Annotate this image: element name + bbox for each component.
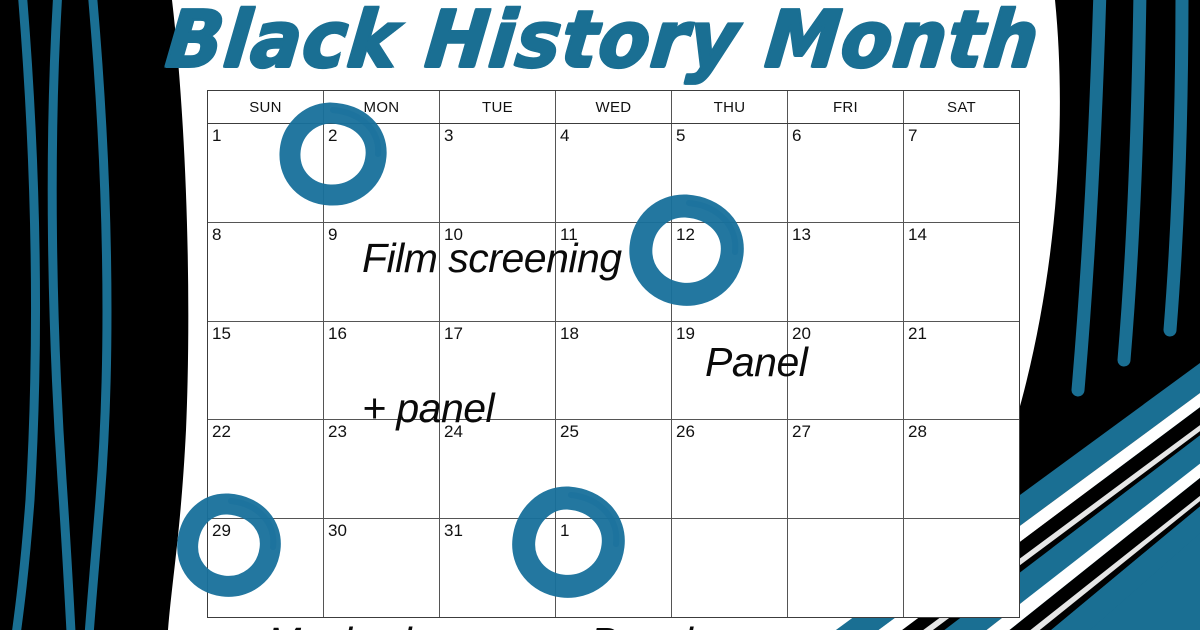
day-number: 8 <box>212 225 221 244</box>
day-number: 16 <box>328 324 347 343</box>
day-cell[interactable]: 24 <box>440 420 556 518</box>
day-cell[interactable]: 1 <box>208 124 324 222</box>
day-number: 21 <box>908 324 927 343</box>
day-number: 24 <box>444 422 463 441</box>
annotation-line-1: Panel <box>590 617 692 630</box>
day-cell[interactable]: 27 <box>788 420 904 518</box>
day-cell[interactable]: 18 <box>556 322 672 420</box>
poster-title: Black History Month <box>178 0 1028 86</box>
left-stripe-3 <box>88 0 107 630</box>
day-number: 29 <box>212 521 231 540</box>
weekday-header-wed: WED <box>556 91 672 123</box>
day-cell[interactable] <box>904 519 1019 617</box>
day-number: 6 <box>792 126 801 145</box>
weekday-header-fri: FRI <box>788 91 904 123</box>
day-cell[interactable]: 29 <box>208 519 324 617</box>
day-number: 27 <box>792 422 811 441</box>
calendar-week-row: 29 30 31 1 <box>208 519 1019 617</box>
day-number: 9 <box>328 225 337 244</box>
day-number: 10 <box>444 225 463 244</box>
day-number: 15 <box>212 324 231 343</box>
day-cell[interactable]: 19 <box>672 322 788 420</box>
day-cell[interactable]: 10 <box>440 223 556 321</box>
day-cell[interactable]: 3 <box>440 124 556 222</box>
weekday-header-tue: TUE <box>440 91 556 123</box>
day-cell[interactable]: 20 <box>788 322 904 420</box>
day-number: 13 <box>792 225 811 244</box>
day-number: 2 <box>328 126 337 145</box>
calendar-grid: SUN MON TUE WED THU FRI SAT 1 2 3 4 5 6 … <box>207 90 1020 618</box>
day-cell[interactable]: 22 <box>208 420 324 518</box>
day-number: 1 <box>212 126 221 145</box>
day-number: 4 <box>560 126 569 145</box>
day-cell[interactable]: 6 <box>788 124 904 222</box>
calendar-body: 1 2 3 4 5 6 7 8 9 10 11 12 13 14 15 16 1… <box>208 124 1019 617</box>
day-number: 11 <box>560 225 578 244</box>
day-number: 20 <box>792 324 811 343</box>
day-cell[interactable]: 9 <box>324 223 440 321</box>
left-black-band <box>0 0 188 630</box>
day-number: 3 <box>444 126 453 145</box>
day-number: 5 <box>676 126 685 145</box>
annotation-line-1: Music show <box>267 617 476 630</box>
day-number: 30 <box>328 521 347 540</box>
day-cell[interactable]: 13 <box>788 223 904 321</box>
day-cell[interactable]: 31 <box>440 519 556 617</box>
day-cell[interactable]: 11 <box>556 223 672 321</box>
day-number: 7 <box>908 126 917 145</box>
day-number: 22 <box>212 422 231 441</box>
day-number: 26 <box>676 422 695 441</box>
day-cell[interactable]: 25 <box>556 420 672 518</box>
day-cell[interactable]: 21 <box>904 322 1019 420</box>
day-number: 18 <box>560 324 579 343</box>
day-cell[interactable]: 15 <box>208 322 324 420</box>
day-number: 31 <box>444 521 463 540</box>
day-cell[interactable]: 12 <box>672 223 788 321</box>
right-stripe-1 <box>1078 0 1100 390</box>
day-cell[interactable]: 2 <box>324 124 440 222</box>
day-cell[interactable]: 28 <box>904 420 1019 518</box>
calendar-week-row: 15 16 17 18 19 20 21 <box>208 322 1019 421</box>
day-cell[interactable] <box>788 519 904 617</box>
calendar-week-row: 1 2 3 4 5 6 7 <box>208 124 1019 223</box>
left-stripe-2 <box>52 0 72 630</box>
weekday-header-mon: MON <box>324 91 440 123</box>
right-stripe-2 <box>1124 0 1140 360</box>
day-cell[interactable]: 1 <box>556 519 672 617</box>
day-cell[interactable]: 8 <box>208 223 324 321</box>
day-number: 25 <box>560 422 579 441</box>
weekday-header-sun: SUN <box>208 91 324 123</box>
day-cell[interactable]: 30 <box>324 519 440 617</box>
day-cell[interactable]: 5 <box>672 124 788 222</box>
right-stripe-3 <box>1170 0 1182 330</box>
corner-teal-fill <box>1010 395 1200 630</box>
calendar-week-row: 22 23 24 25 26 27 28 <box>208 420 1019 519</box>
day-cell[interactable]: 23 <box>324 420 440 518</box>
calendar-header-row: SUN MON TUE WED THU FRI SAT <box>208 91 1019 124</box>
day-cell[interactable]: 4 <box>556 124 672 222</box>
ribbon-sliver-b <box>990 484 1200 630</box>
day-number: 19 <box>676 324 695 343</box>
day-number: 28 <box>908 422 927 441</box>
day-number: 17 <box>444 324 463 343</box>
day-cell[interactable]: 7 <box>904 124 1019 222</box>
day-number: 23 <box>328 422 347 441</box>
weekday-header-thu: THU <box>672 91 788 123</box>
day-cell[interactable]: 26 <box>672 420 788 518</box>
day-cell[interactable]: 17 <box>440 322 556 420</box>
day-cell[interactable]: 16 <box>324 322 440 420</box>
poster-title-text: Black History Month <box>162 0 1043 81</box>
left-stripe-1 <box>14 0 36 630</box>
black-history-month-poster: Black History Month SUN MON TUE WED THU … <box>0 0 1200 630</box>
day-number: 14 <box>908 225 927 244</box>
day-cell[interactable] <box>672 519 788 617</box>
day-number: 1 <box>560 521 569 540</box>
calendar-week-row: 8 9 10 11 12 13 14 <box>208 223 1019 322</box>
day-cell[interactable]: 14 <box>904 223 1019 321</box>
day-number: 12 <box>676 225 695 244</box>
weekday-header-sat: SAT <box>904 91 1019 123</box>
